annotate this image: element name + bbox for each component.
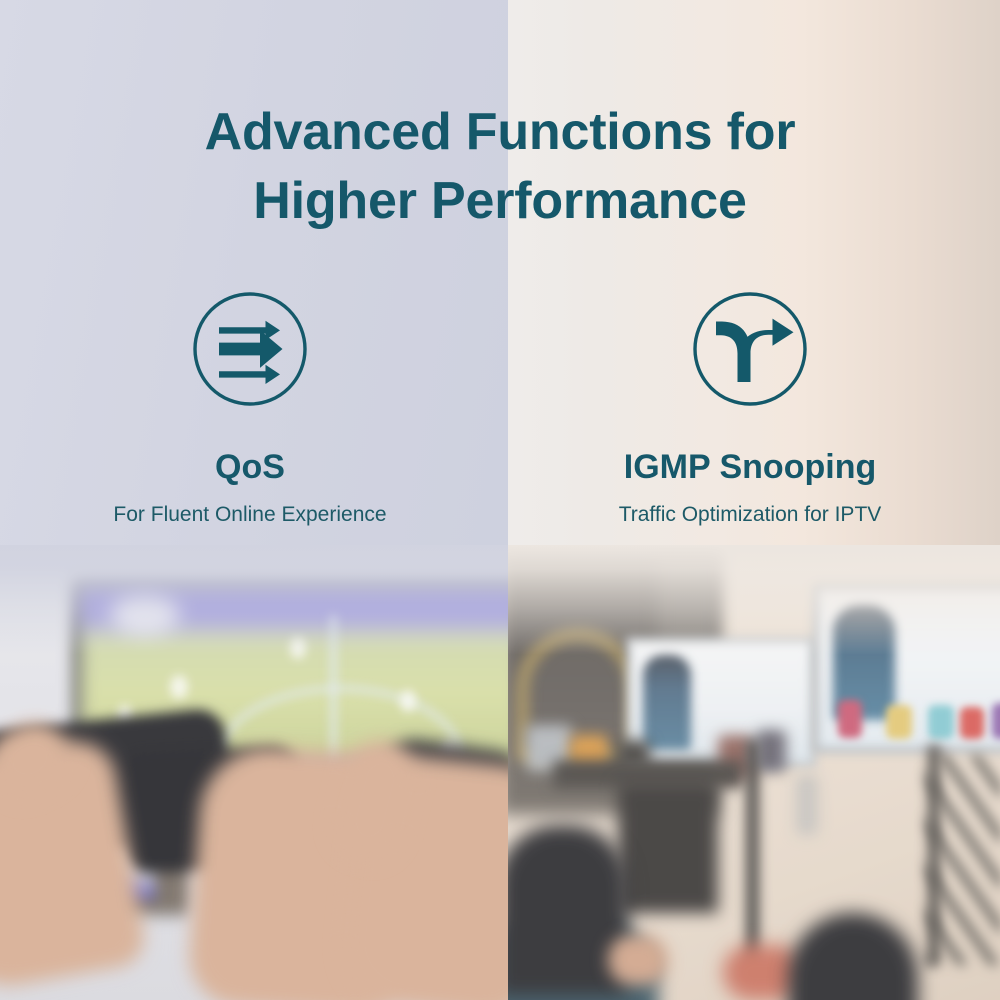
feature-qos: QoS For Fluent Online Experience [0,290,500,525]
page-title-line-1: Advanced Functions for [205,103,796,161]
feature-qos-subtitle: For Fluent Online Experience [113,504,386,525]
promo-banner: Advanced Functions for Higher Performanc… [0,0,1000,1000]
feature-list: QoS For Fluent Online Experience IGMP Sn… [0,290,1000,525]
page-title: Advanced Functions for Higher Performanc… [0,98,1000,236]
three-arrows-icon [191,290,309,408]
feature-igmp-subtitle: Traffic Optimization for IPTV [619,504,882,525]
feature-igmp-title: IGMP Snooping [624,450,876,484]
page-title-line-2: Higher Performance [253,172,746,230]
content-layer: Advanced Functions for Higher Performanc… [0,0,1000,1000]
feature-qos-title: QoS [215,450,285,484]
feature-igmp-snooping: IGMP Snooping Traffic Optimization for I… [500,290,1000,525]
branching-arrow-icon [691,290,809,408]
